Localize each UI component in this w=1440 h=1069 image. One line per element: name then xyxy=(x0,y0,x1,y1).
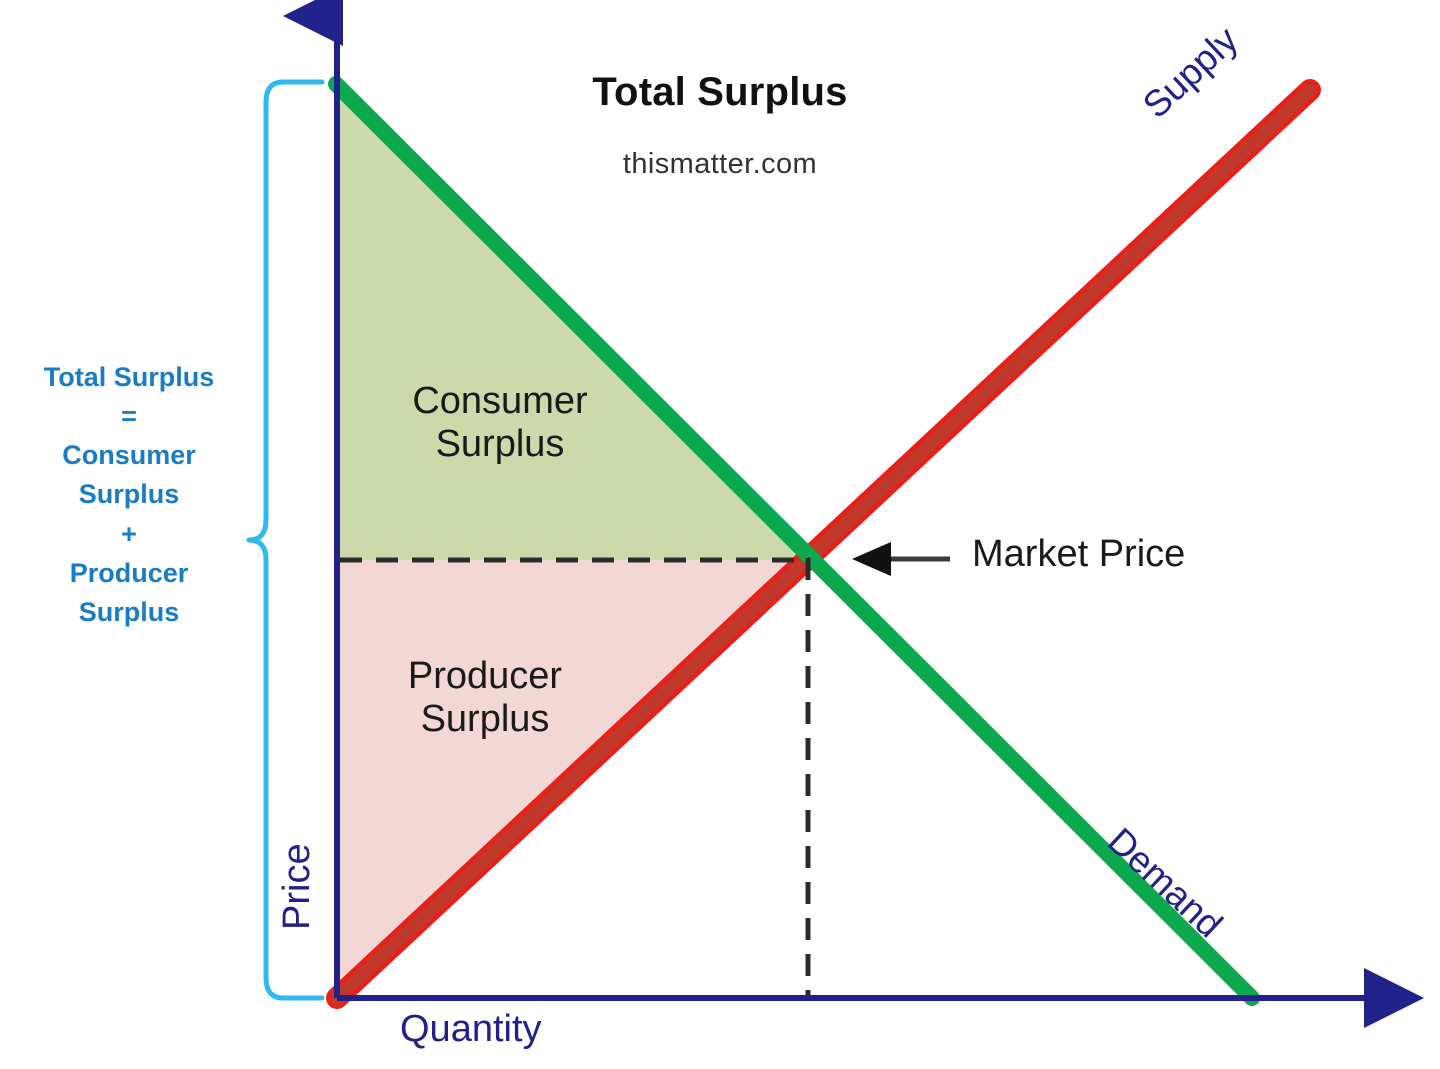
market-price-pointer xyxy=(852,542,950,576)
market-price-label: Market Price xyxy=(972,533,1185,576)
x-axis-label: Quantity xyxy=(400,1008,542,1051)
y-axis-label: Price xyxy=(276,843,319,930)
source-watermark: thismatter.com xyxy=(0,148,1440,180)
producer-surplus-label: Producer Surplus xyxy=(340,655,630,740)
page-title: Total Surplus xyxy=(0,70,1440,115)
diagram-canvas: Total Surplus thismatter.com Total Surpl… xyxy=(0,0,1440,1069)
consumer-surplus-label: Consumer Surplus xyxy=(355,380,645,465)
total-surplus-equation-note: Total Surplus = Consumer Surplus + Produ… xyxy=(0,358,258,632)
